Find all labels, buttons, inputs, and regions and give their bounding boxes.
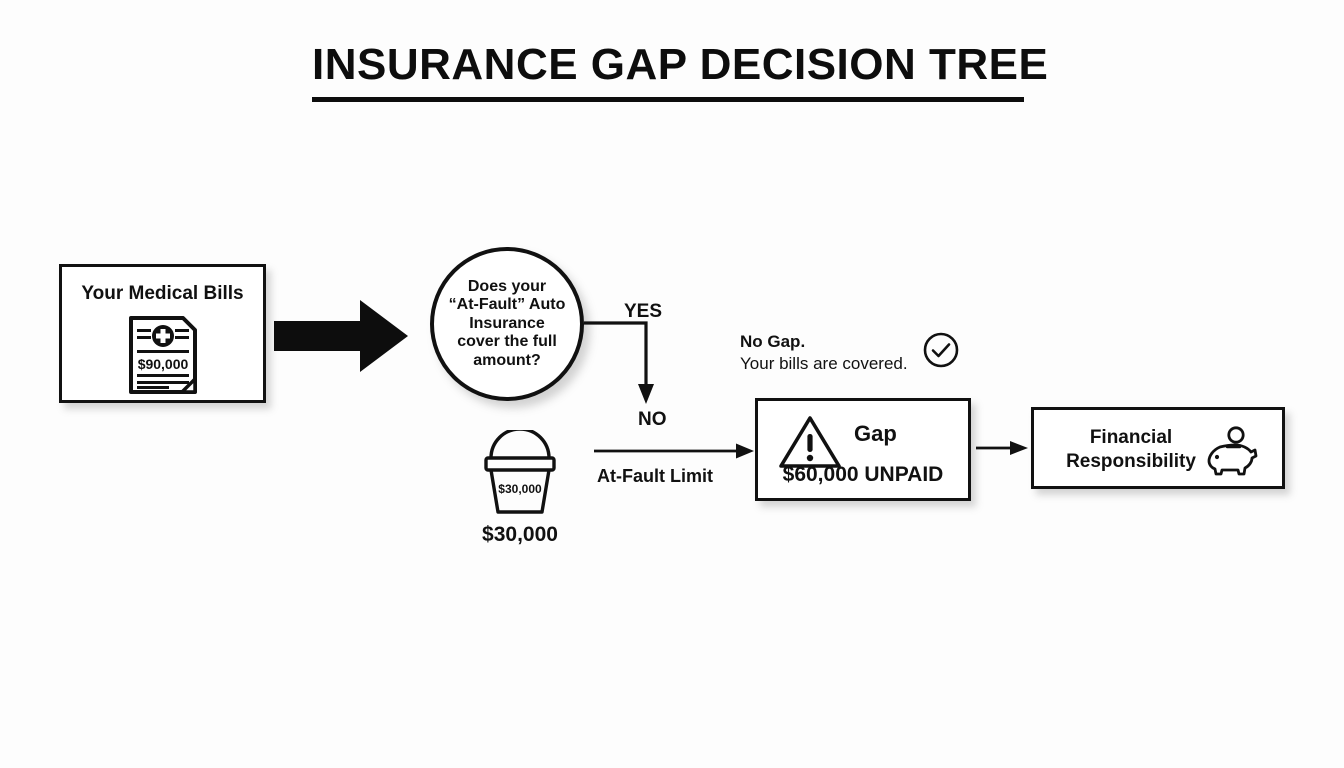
piggy-bank-icon xyxy=(1206,426,1260,481)
at-fault-limit-bucket: $30,000 $30,000 xyxy=(478,430,562,523)
bucket-caption-amount: $30,000 xyxy=(460,523,580,547)
gap-title: Gap xyxy=(854,421,897,447)
at-fault-limit-label: At-Fault Limit xyxy=(597,466,713,487)
medical-document-icon: $90,000 xyxy=(125,315,201,400)
block-arrow-right-icon xyxy=(272,294,412,383)
title-underline xyxy=(312,97,1024,102)
bucket-inner-amount: $30,000 xyxy=(478,482,562,496)
no-gap-title: No Gap. xyxy=(740,331,908,353)
decision-tree-diagram: INSURANCE GAP DECISION TREE Your Medical… xyxy=(0,0,1344,768)
page-title: INSURANCE GAP DECISION TREE xyxy=(312,42,1024,102)
medical-bills-node: Your Medical Bills $90,000 xyxy=(59,264,266,403)
gap-amount: $60,000 UNPAID xyxy=(758,463,968,487)
check-circle-icon xyxy=(922,331,960,374)
page-title-text: INSURANCE GAP DECISION TREE xyxy=(312,42,1024,88)
no-gap-subtitle: Your bills are covered. xyxy=(740,353,908,375)
gap-node: Gap $60,000 UNPAID xyxy=(755,398,971,501)
medical-bills-label: Your Medical Bills xyxy=(62,283,263,305)
financial-responsibility-node: Financial Responsibility xyxy=(1031,407,1285,489)
at-fault-limit-connector xyxy=(594,440,756,467)
decision-question-text: Does your “At-Fault” Auto Insurance cove… xyxy=(438,278,576,371)
no-gap-text-group: No Gap. Your bills are covered. xyxy=(740,331,908,375)
medical-bills-amount: $90,000 xyxy=(137,356,188,372)
decision-node: Does your “At-Fault” Auto Insurance cove… xyxy=(430,247,584,401)
no-gap-outcome: No Gap. Your bills are covered. xyxy=(740,331,960,375)
no-branch-label: NO xyxy=(638,409,667,431)
yes-branch-label: YES xyxy=(624,301,662,323)
gap-to-financial-connector xyxy=(976,438,1030,463)
bucket-icon xyxy=(478,430,562,518)
financial-responsibility-label: Financial Responsibility xyxy=(1056,426,1206,474)
